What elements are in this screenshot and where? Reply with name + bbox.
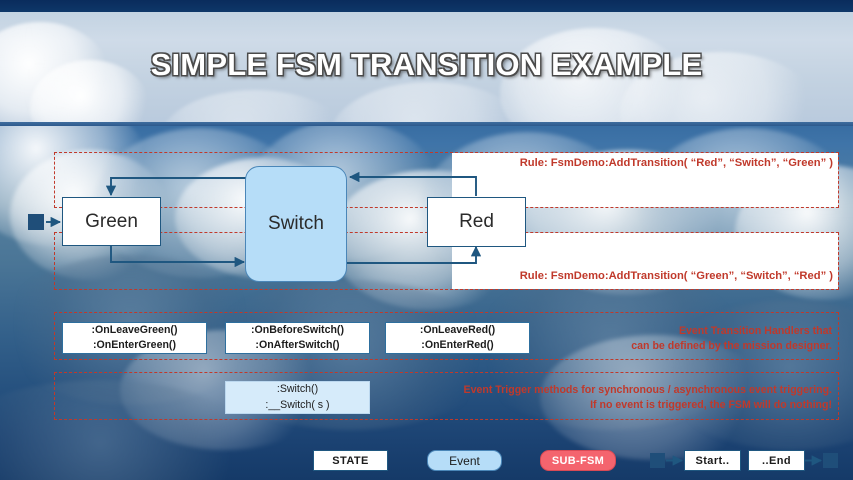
legend-end-label: ..End xyxy=(762,455,791,467)
legend-end-box: ..End xyxy=(748,450,805,471)
legend-start-label: Start.. xyxy=(696,455,730,467)
legend-arrows xyxy=(0,0,853,480)
legend-start-box: Start.. xyxy=(684,450,741,471)
diagram-layer: Rule: FsmDemo:AddTransition( “Red”, “Swi… xyxy=(0,0,853,480)
legend-end-square xyxy=(823,453,838,468)
slide-canvas: SIMPLE FSM TRANSITION EXAMPLE Rule: FsmD… xyxy=(0,0,853,480)
